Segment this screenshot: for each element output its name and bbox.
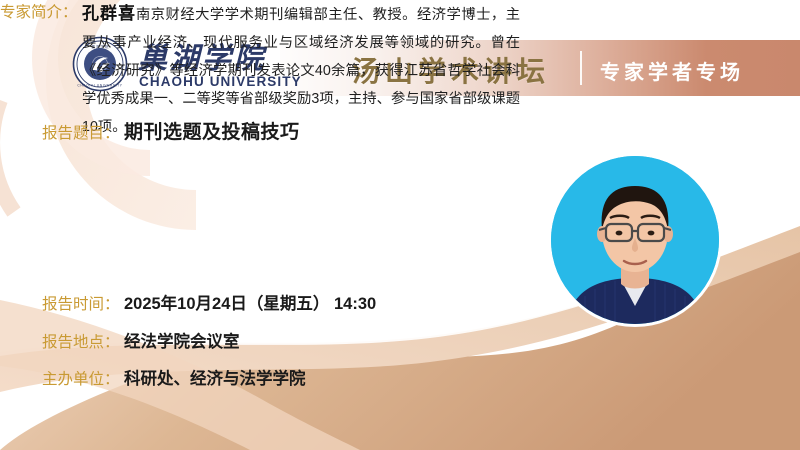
speaker-name: 孔群喜 <box>82 4 136 23</box>
speaker-portrait-image <box>551 156 719 324</box>
organizer-value: 科研处、经济与法学学院 <box>124 370 306 388</box>
report-time-label: 报告时间： <box>42 296 120 313</box>
field-report-title: 报告题目： 期刊选题及投稿技巧 <box>42 117 299 144</box>
report-time-value: 2025年10月24日（星期五） 14:30 <box>124 295 376 313</box>
main-content: 报告题目： 期刊选题及投稿技巧 专家简介： 孔群喜南京财经大学学术期刊编辑部主任… <box>0 0 800 450</box>
report-title-value: 期刊选题及投稿技巧 <box>124 122 300 143</box>
speaker-bio-label: 专家简介： <box>0 0 78 22</box>
report-place-label: 报告地点： <box>42 334 120 351</box>
report-title-label: 报告题目： <box>42 125 120 142</box>
report-place-value: 经法学院会议室 <box>124 333 240 351</box>
field-organizer: 主办单位： 科研处、经济与法学学院 <box>42 365 305 389</box>
field-report-place: 报告地点： 经法学院会议室 <box>42 328 239 352</box>
organizer-label: 主办单位： <box>42 371 120 388</box>
speaker-portrait <box>551 156 719 324</box>
speaker-bio-text: 南京财经大学学术期刊编辑部主任、教授。经济学博士，主要从事产业经济、现代服务业与… <box>82 7 520 135</box>
field-report-time: 报告时间： 2025年10月24日（星期五） 14:30 <box>42 290 376 314</box>
poster-root: 汤山学术讲坛 专家学者专场 巢 湖 学 院 CHAOHU UNIVERSITY … <box>0 0 800 450</box>
